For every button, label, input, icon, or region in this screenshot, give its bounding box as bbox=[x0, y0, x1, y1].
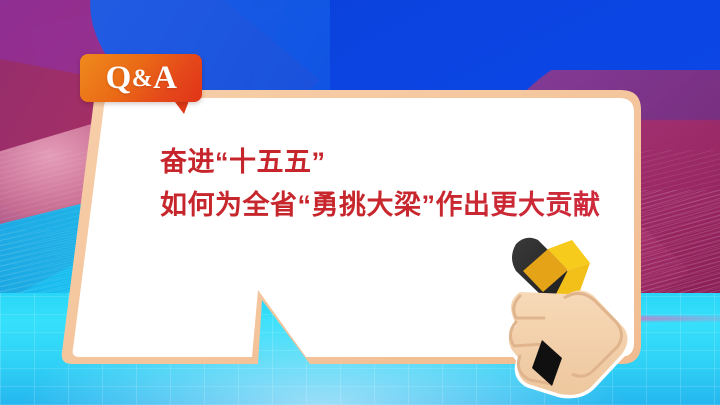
poster-canvas: Q&A 奋进“十五五” 如何为全省“勇挑大梁”作出更大贡献 bbox=[0, 0, 720, 405]
qa-badge-label: Q&A bbox=[80, 54, 202, 102]
hand-holding-microphone bbox=[490, 218, 660, 405]
qa-letter-a: A bbox=[153, 62, 176, 95]
headline-line-1: 奋进“十五五” bbox=[160, 141, 630, 184]
qa-badge[interactable]: Q&A bbox=[80, 54, 202, 114]
headline: 奋进“十五五” 如何为全省“勇挑大梁”作出更大贡献 bbox=[160, 141, 630, 227]
qa-ampersand: & bbox=[131, 66, 153, 91]
qa-letter-q: Q bbox=[106, 62, 131, 95]
